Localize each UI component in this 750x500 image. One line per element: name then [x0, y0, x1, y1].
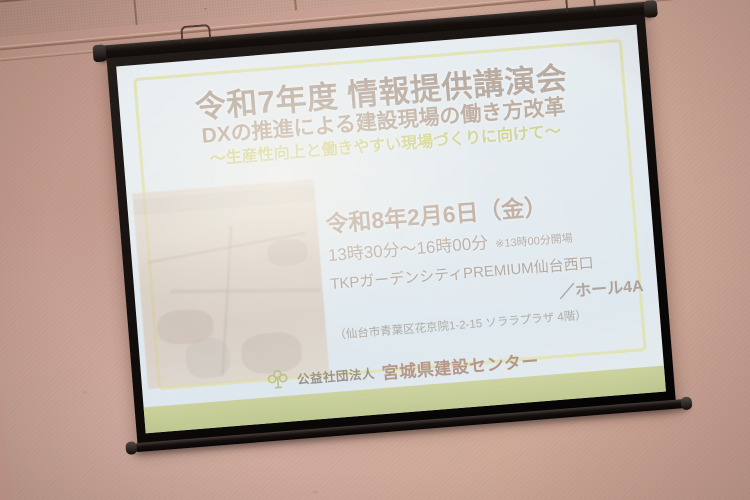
screen-case-end-right — [644, 0, 658, 18]
event-time-note: ※13時00分開場 — [495, 232, 573, 250]
presentation-slide: 令和7年度 情報提供講演会 DXの推進による建設現場の働き方改革 ～生産性向上と… — [116, 25, 666, 434]
event-details: 令和8年2月6日（金） 13時30分～16時00分※13時00分開場 TKPガー… — [324, 180, 652, 343]
weight-bar-end-right — [681, 396, 693, 410]
screen-black-border: 令和7年度 情報提供講演会 DXの推進による建設現場の働き方改革 ～生産性向上と… — [106, 15, 676, 447]
screen-mount-hook-left — [180, 24, 211, 43]
organizer-prefix: 公益社団法人 — [296, 363, 375, 388]
event-time: 13時30分～16時00分 — [327, 233, 489, 265]
weight-bar-end-left — [125, 441, 137, 455]
construction-site-photo — [132, 179, 329, 389]
conference-room-scene: 令和7年度 情報提供講演会 DXの推進による建設現場の働き方改革 ～生産性向上と… — [0, 0, 750, 500]
projection-screen: 令和7年度 情報提供講演会 DXの推進による建設現場の働き方改革 ～生産性向上と… — [96, 0, 691, 457]
screen-case-end-left — [92, 44, 106, 62]
clover-trefoil-icon — [265, 368, 291, 392]
